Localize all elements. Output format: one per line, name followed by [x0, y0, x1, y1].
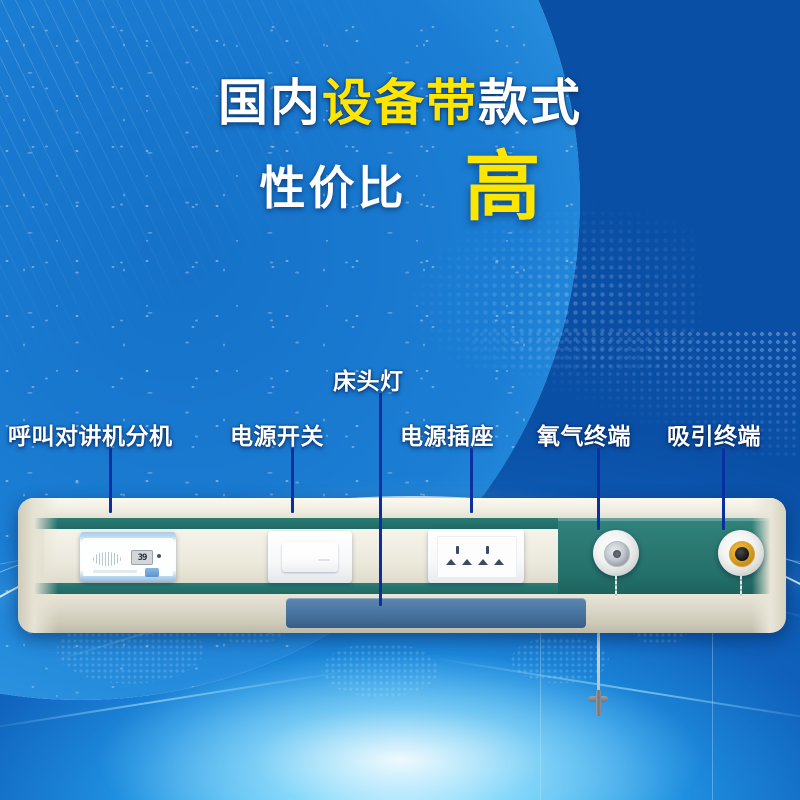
- leader-line-oxygen-terminal: [597, 448, 600, 530]
- leader-line-power-switch: [291, 448, 294, 513]
- leader-line-bed-lamp: [379, 393, 382, 606]
- callout-label-oxygen-terminal: 氧气终端: [537, 417, 631, 451]
- callout-label-bed-lamp: 床头灯: [333, 362, 404, 396]
- callout-layer: 呼叫对讲机分机 电源开关 床头灯 电源插座 氧气终端 吸引终端: [0, 0, 800, 800]
- leader-line-suction-terminal: [722, 448, 725, 530]
- callout-label-nurse-call-intercom: 呼叫对讲机分机: [8, 417, 173, 451]
- callout-label-power-socket: 电源插座: [400, 417, 494, 451]
- callout-label-suction-terminal: 吸引终端: [667, 417, 761, 451]
- banner-canvas: 国内设备带款式 性价比 高 呼叫对讲机分机 电源开关 床头灯 电源插座 氧气终端…: [0, 0, 800, 800]
- leader-line-nurse-call-intercom: [109, 448, 112, 513]
- leader-line-power-socket: [470, 448, 473, 513]
- callout-label-power-switch: 电源开关: [230, 417, 324, 451]
